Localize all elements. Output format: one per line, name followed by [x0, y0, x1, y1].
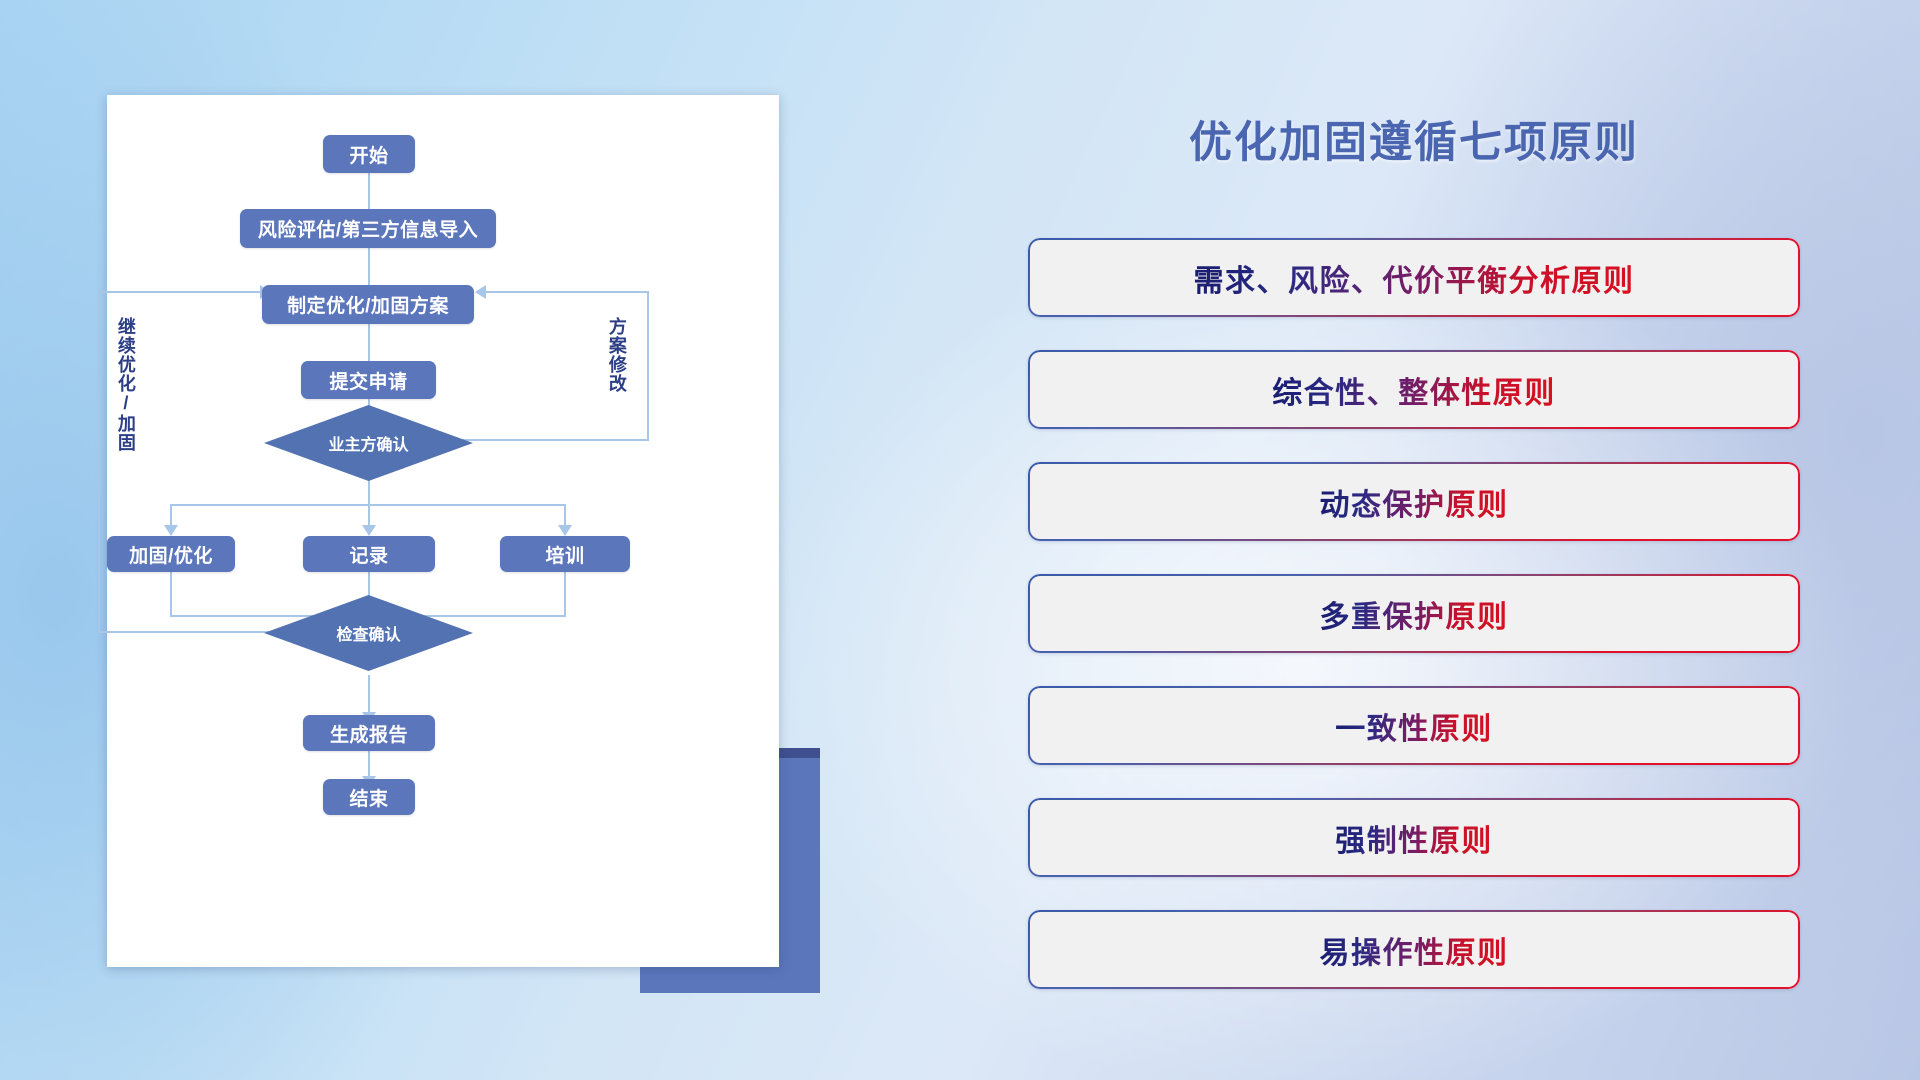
connector-owner-right	[462, 439, 649, 441]
principle-card-label: 需求、风险、代价平衡分析原则	[1194, 256, 1635, 300]
principle-card-label: 易操作性原则	[1320, 928, 1509, 972]
flow-node-label: 制定优化/加固方案	[287, 291, 449, 318]
flow-node-start[interactable]: 开始	[323, 135, 415, 173]
flow-node-label: 开始	[349, 141, 388, 168]
flow-node-end[interactable]: 结束	[323, 779, 415, 815]
flow-label-plan-revision: 方案修改	[607, 317, 626, 393]
flow-node-label: 记录	[349, 541, 388, 568]
flow-node-label: 提交申请	[329, 367, 407, 394]
connector-check-to-report	[368, 675, 370, 715]
flow-decision-owner-confirm[interactable]: 业主方确认	[264, 405, 473, 481]
flow-node-label: 加固/优化	[129, 541, 213, 568]
principle-card-label: 强制性原则	[1335, 816, 1493, 860]
principle-card-label: 综合性、整体性原则	[1272, 368, 1556, 412]
connector-left-to-plan	[98, 291, 261, 293]
connector-left-up	[98, 291, 100, 633]
flow-node-label: 生成报告	[330, 720, 408, 747]
flow-decision-check-confirm[interactable]: 检查确认	[264, 595, 473, 671]
connector-report-to-end	[368, 751, 370, 778]
principle-card[interactable]: 一致性原则	[1028, 686, 1800, 765]
arrowhead-branch-right	[558, 525, 572, 536]
flow-node-submit[interactable]: 提交申请	[301, 361, 436, 399]
slide-canvas: 开始 风险评估/第三方信息导入 制定优化/加固方案 提交申请 业主方确认 加固/…	[0, 0, 1920, 1080]
flow-node-label: 风险评估/第三方信息导入	[258, 215, 478, 242]
connector-owner-down	[368, 480, 370, 506]
principle-card-label: 动态保护原则	[1320, 480, 1509, 524]
principle-card-label: 多重保护原则	[1320, 592, 1509, 636]
flow-node-label: 结束	[349, 784, 388, 811]
principle-card[interactable]: 多重保护原则	[1028, 574, 1800, 653]
connector-start-to-risk	[368, 172, 370, 214]
principle-card[interactable]: 易操作性原则	[1028, 910, 1800, 989]
principle-card-label: 一致性原则	[1335, 704, 1493, 748]
flow-node-label: 业主方确认	[328, 431, 408, 455]
principle-card[interactable]: 需求、风险、代价平衡分析原则	[1028, 238, 1800, 317]
connector-check-left	[98, 631, 286, 633]
flowchart-panel: 开始 风险评估/第三方信息导入 制定优化/加固方案 提交申请 业主方确认 加固/…	[107, 95, 779, 967]
connector-branch-left	[170, 504, 172, 527]
arrowhead-branch-mid	[362, 525, 376, 536]
flow-node-plan[interactable]: 制定优化/加固方案	[262, 285, 474, 324]
connector-right-up	[647, 291, 649, 441]
flow-node-risk-assessment[interactable]: 风险评估/第三方信息导入	[240, 209, 496, 248]
arrowhead-branch-left	[164, 525, 178, 536]
principle-card[interactable]: 强制性原则	[1028, 798, 1800, 877]
connector-branch-mid	[368, 504, 370, 527]
flow-node-reinforce[interactable]: 加固/优化	[107, 536, 235, 572]
flow-node-label: 培训	[545, 541, 584, 568]
connector-right-to-plan	[484, 291, 649, 293]
flow-node-record[interactable]: 记录	[303, 536, 435, 572]
arrowhead-right-to-plan	[475, 285, 486, 299]
principle-list: 需求、风险、代价平衡分析原则 综合性、整体性原则 动态保护原则 多重保护原则 一…	[1028, 238, 1800, 1022]
flow-node-label: 检查确认	[336, 621, 400, 645]
connector-branch-right	[564, 504, 566, 527]
flow-node-report[interactable]: 生成报告	[303, 715, 435, 751]
connector-merge-right	[564, 572, 566, 617]
flow-node-training[interactable]: 培训	[500, 536, 630, 572]
page-title: 优化加固遵循七项原则	[1028, 108, 1800, 170]
flow-label-continue-optimize: 继续优化/加固	[116, 317, 135, 452]
connector-merge-left	[170, 572, 172, 617]
connector-risk-to-plan	[368, 247, 370, 289]
principle-card[interactable]: 动态保护原则	[1028, 462, 1800, 541]
principle-card[interactable]: 综合性、整体性原则	[1028, 350, 1800, 429]
